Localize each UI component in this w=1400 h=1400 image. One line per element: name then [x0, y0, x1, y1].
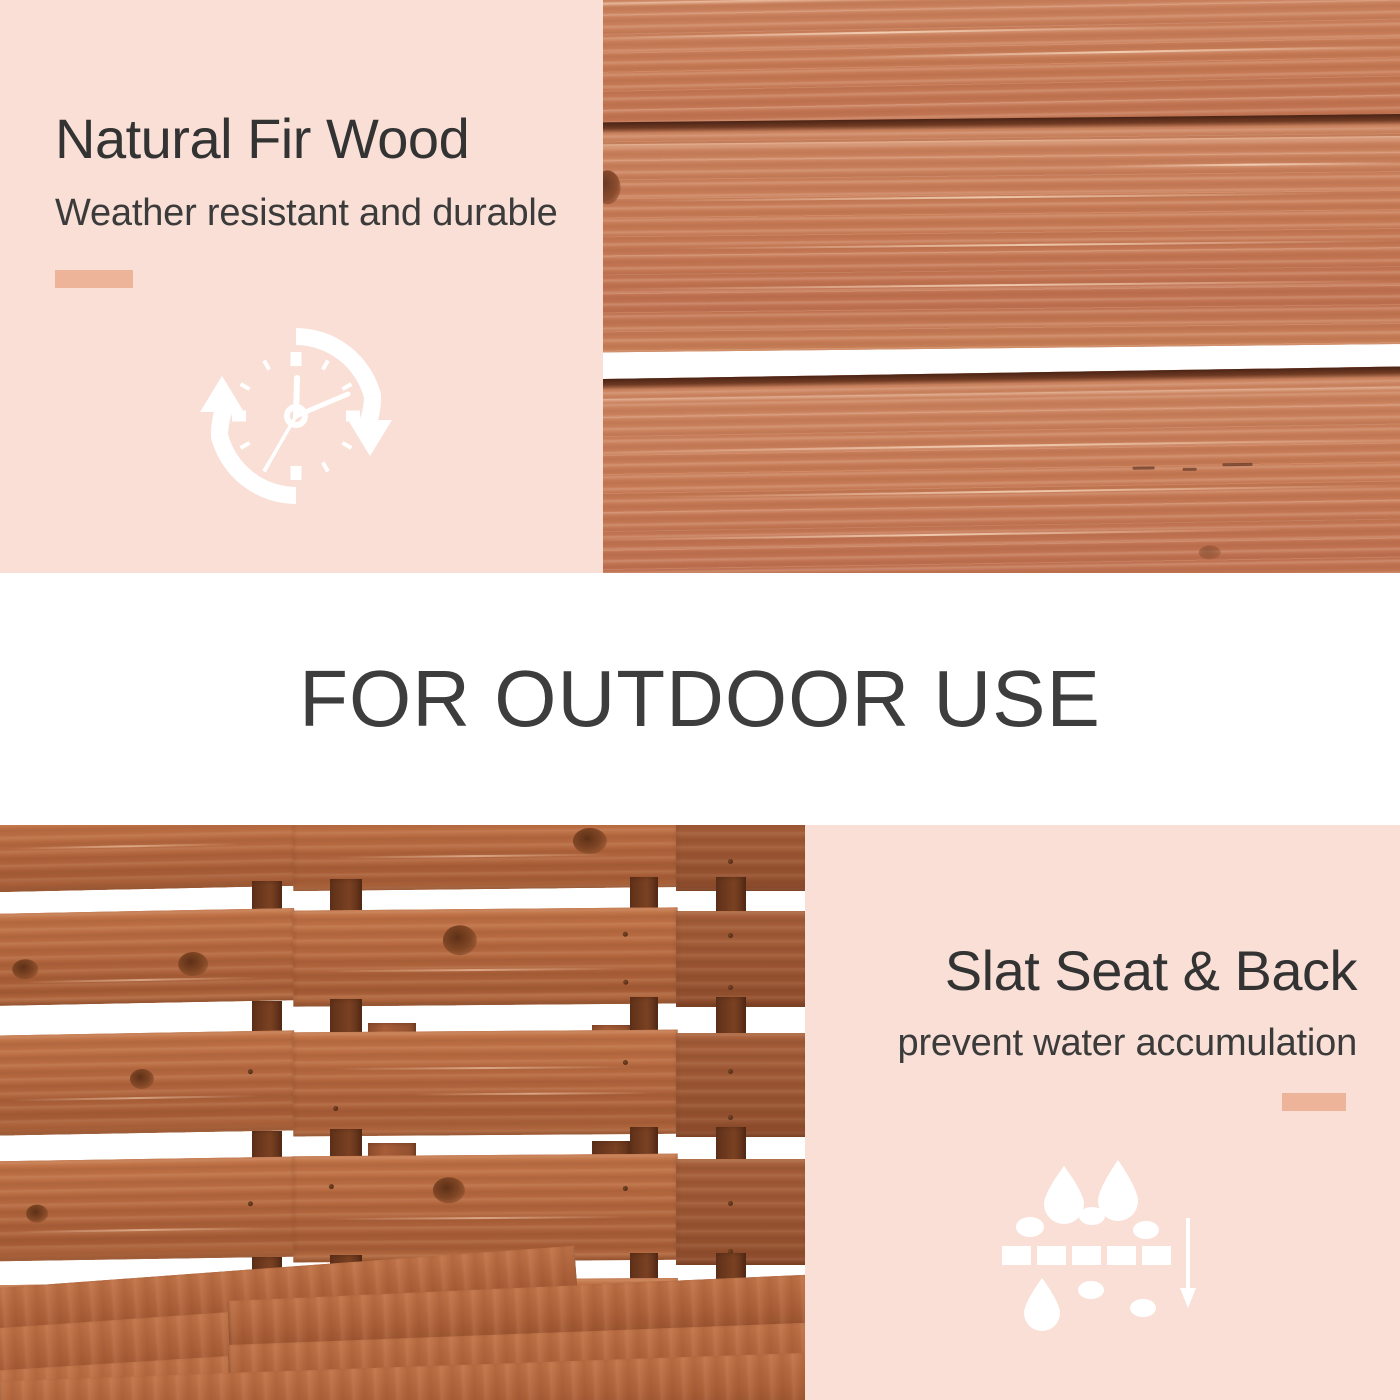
- bench-back-slat: [676, 1033, 805, 1137]
- bench-back-slat: [0, 1030, 296, 1135]
- bottom-accent-dash: [1282, 1093, 1346, 1111]
- bench-back-slat: [293, 1030, 679, 1137]
- bench-back-slat: [293, 907, 679, 1006]
- bench-back-slat: [293, 1154, 679, 1263]
- water-drainage-icon-svg: [1000, 1148, 1220, 1333]
- outdoor-use-banner: FOR OUTDOOR USE: [0, 573, 1400, 825]
- bench-slat-construction: [0, 825, 805, 1400]
- wood-plank: [603, 366, 1400, 573]
- clock-rotation-icon: [196, 316, 396, 516]
- water-drainage-icon: [1000, 1148, 1220, 1333]
- bench-back-slat: [676, 911, 805, 1007]
- clock-rotation-icon-svg: [196, 316, 396, 516]
- slat-bench-photo: [0, 825, 805, 1400]
- wood-plank: [603, 113, 1400, 353]
- top-feature-section: Natural Fir Wood Weather resistant and d…: [0, 0, 1400, 573]
- bench-back-slat: [676, 1159, 805, 1265]
- top-feature-subtitle: Weather resistant and durable: [55, 192, 558, 235]
- product-feature-page: Natural Fir Wood Weather resistant and d…: [0, 0, 1400, 1400]
- fir-wood-photo: [603, 0, 1400, 573]
- top-feature-title: Natural Fir Wood: [55, 106, 469, 171]
- bottom-feature-title: Slat Seat & Back: [945, 938, 1357, 1003]
- bench-back-slat: [0, 908, 296, 1006]
- top-accent-dash: [55, 270, 133, 288]
- banner-headline: FOR OUTDOOR USE: [299, 653, 1101, 745]
- top-text-panel: Natural Fir Wood Weather resistant and d…: [0, 0, 603, 573]
- bottom-feature-subtitle: prevent water accumulation: [898, 1022, 1357, 1065]
- bench-back-slat: [0, 1157, 296, 1262]
